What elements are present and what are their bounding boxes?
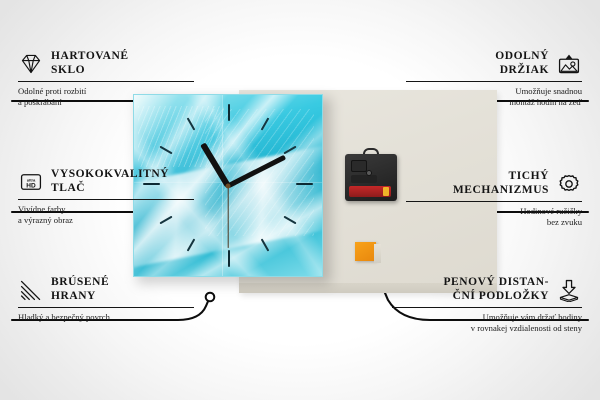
feature-tempered-glass: HARTOVANÉ SKLO Odolné proti rozbití a po… [18,50,194,109]
feature-title-line2: TLAČ [51,182,169,196]
ultra-hd-icon: ultra HD [18,170,44,194]
mechanism-shaft [366,170,372,176]
feature-desc-line1: Hodinové ručičky [406,206,582,218]
brushed-edges-icon [18,278,44,302]
clock-mechanism [345,154,397,201]
clock-tick-6 [228,250,230,267]
feature-desc-line1: Umožňuje vám držať hodiny [392,312,582,324]
feature-title-line2: ČNÍ PODLOŽKY [443,290,549,304]
feature-rule [18,199,194,200]
foam-pad-icon [556,278,582,302]
feature-hd-print: ultra HD VYSOKOKVALITNÝ TLAČ Vivídne far… [18,168,194,227]
clock-center-cap [226,183,231,188]
feature-title-line1: PENOVÝ DISTAN- [443,276,549,290]
feature-title-line2: DRŽIAK [495,64,549,78]
feature-rule [406,81,582,82]
feature-desc-line2: bez zvuku [406,217,582,229]
feature-rule [406,201,582,202]
feature-foam-spacers: PENOVÝ DISTAN- ČNÍ PODLOŽKY Umožňuje vám… [392,276,582,335]
feature-desc-line2: montáž hodin na zeď [406,97,582,109]
feature-ground-edges: BRÚSENÉ HRANY Hladký a bezpečný povrch [18,276,194,323]
clock-tick-12 [228,104,230,121]
svg-text:HD: HD [26,182,36,189]
battery-label [349,186,391,197]
feature-title-line1: HARTOVANÉ [51,50,129,64]
feature-rule [18,307,194,308]
diamond-icon [18,52,44,76]
feature-title-line2: SKLO [51,64,129,78]
clock-second-hand [227,186,228,248]
feature-title-line2: MECHANIZMUS [453,184,549,198]
feature-desc-line1: Umožňuje snadnou [406,86,582,98]
feature-title-line1: TICHÝ [453,170,549,184]
clock-tick-3 [296,183,313,185]
feature-title-line2: HRANY [51,290,109,304]
feature-desc-line2: a výrazný obraz [18,215,194,227]
feature-rule [392,307,582,308]
feature-desc-line2: a poškrábání [18,97,194,109]
feature-silent-mechanism: TICHÝ MECHANIZMUS Hodinové ručičky bez z… [406,170,582,229]
feature-title-line1: ODOLNÝ [495,50,549,64]
feature-desc-line1: Hladký a bezpečný povrch [18,312,194,324]
foam-spacer-pad [355,242,376,261]
gear-icon [556,172,582,196]
feature-desc-line1: Vivídne farby [18,204,194,216]
feature-desc-line1: Odolné proti rozbití [18,86,194,98]
infographic-canvas: HARTOVANÉ SKLO Odolné proti rozbití a po… [0,0,600,400]
feature-title-line1: VYSOKOKVALITNÝ [51,168,169,182]
feature-rule [18,81,194,82]
feature-title-line1: BRÚSENÉ [51,276,109,290]
feature-durable-hanger: ODOLNÝ DRŽIAK Umožňuje snadnou montáž ho… [406,50,582,109]
feature-desc-line2: v rovnakej vzdialenosti od steny [392,323,582,335]
picture-hanger-icon [556,52,582,76]
